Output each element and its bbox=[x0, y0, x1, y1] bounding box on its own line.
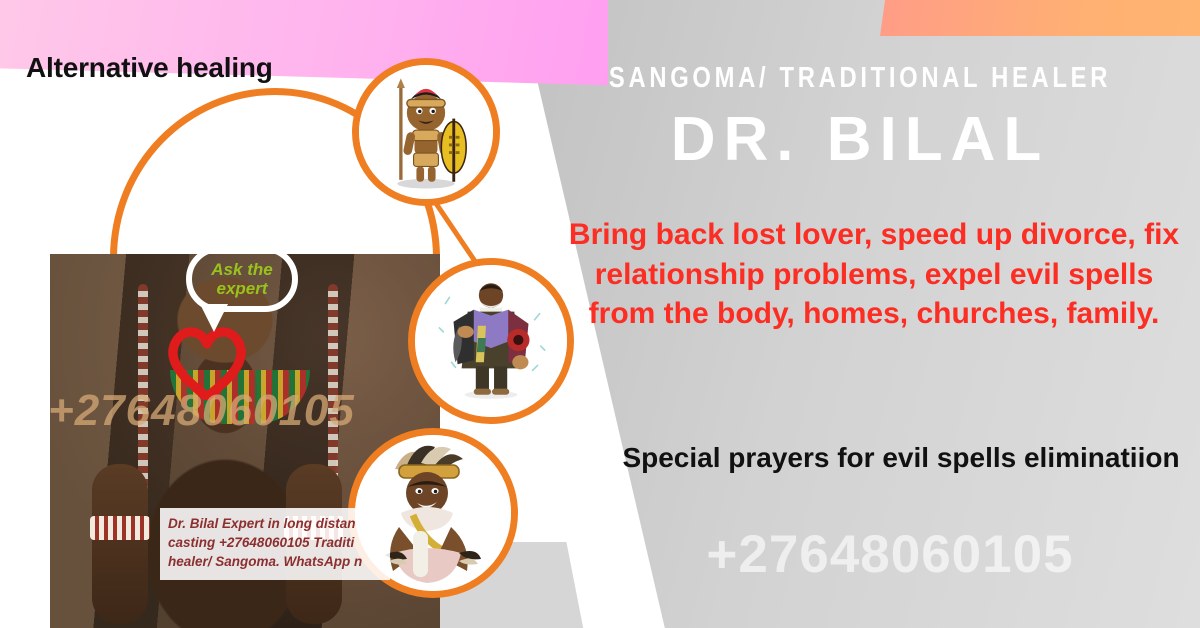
arm-left bbox=[92, 464, 148, 624]
prayers-text: Special prayers for evil spells eliminat… bbox=[606, 440, 1196, 476]
photo-phone-watermark: +27648060105 bbox=[48, 386, 355, 436]
flyer-canvas: Alternative healing Ask the expert +2764… bbox=[0, 0, 1200, 628]
right-content-column: SANGOMA/ TRADITIONAL HEALER DR. BILAL Br… bbox=[540, 0, 1200, 628]
photo-caption-line-2: casting +27648060105 Traditi bbox=[168, 533, 382, 552]
speech-bubble-tail bbox=[200, 304, 228, 332]
armband-left bbox=[90, 516, 150, 540]
photo-caption-box: Dr. Bilal Expert in long distan casting … bbox=[160, 508, 390, 580]
phone-watermark: +27648060105 bbox=[580, 524, 1200, 585]
page-title: Alternative healing bbox=[26, 52, 273, 84]
service-eyebrow: SANGOMA/ TRADITIONAL HEALER bbox=[598, 62, 1123, 95]
brand-name: DR. BILAL bbox=[540, 104, 1180, 175]
services-text: Bring back lost lover, speed up divorce,… bbox=[558, 215, 1190, 334]
photo-caption-line-3: healer/ Sangoma. WhatsApp n bbox=[168, 552, 382, 571]
bubble-zulu-warrior bbox=[352, 58, 500, 206]
speech-bubble: Ask the expert bbox=[186, 246, 298, 312]
photo-caption-line-1: Dr. Bilal Expert in long distan bbox=[168, 514, 382, 533]
zulu-warrior-illustration bbox=[359, 65, 493, 199]
speech-bubble-text: Ask the expert bbox=[192, 260, 292, 298]
